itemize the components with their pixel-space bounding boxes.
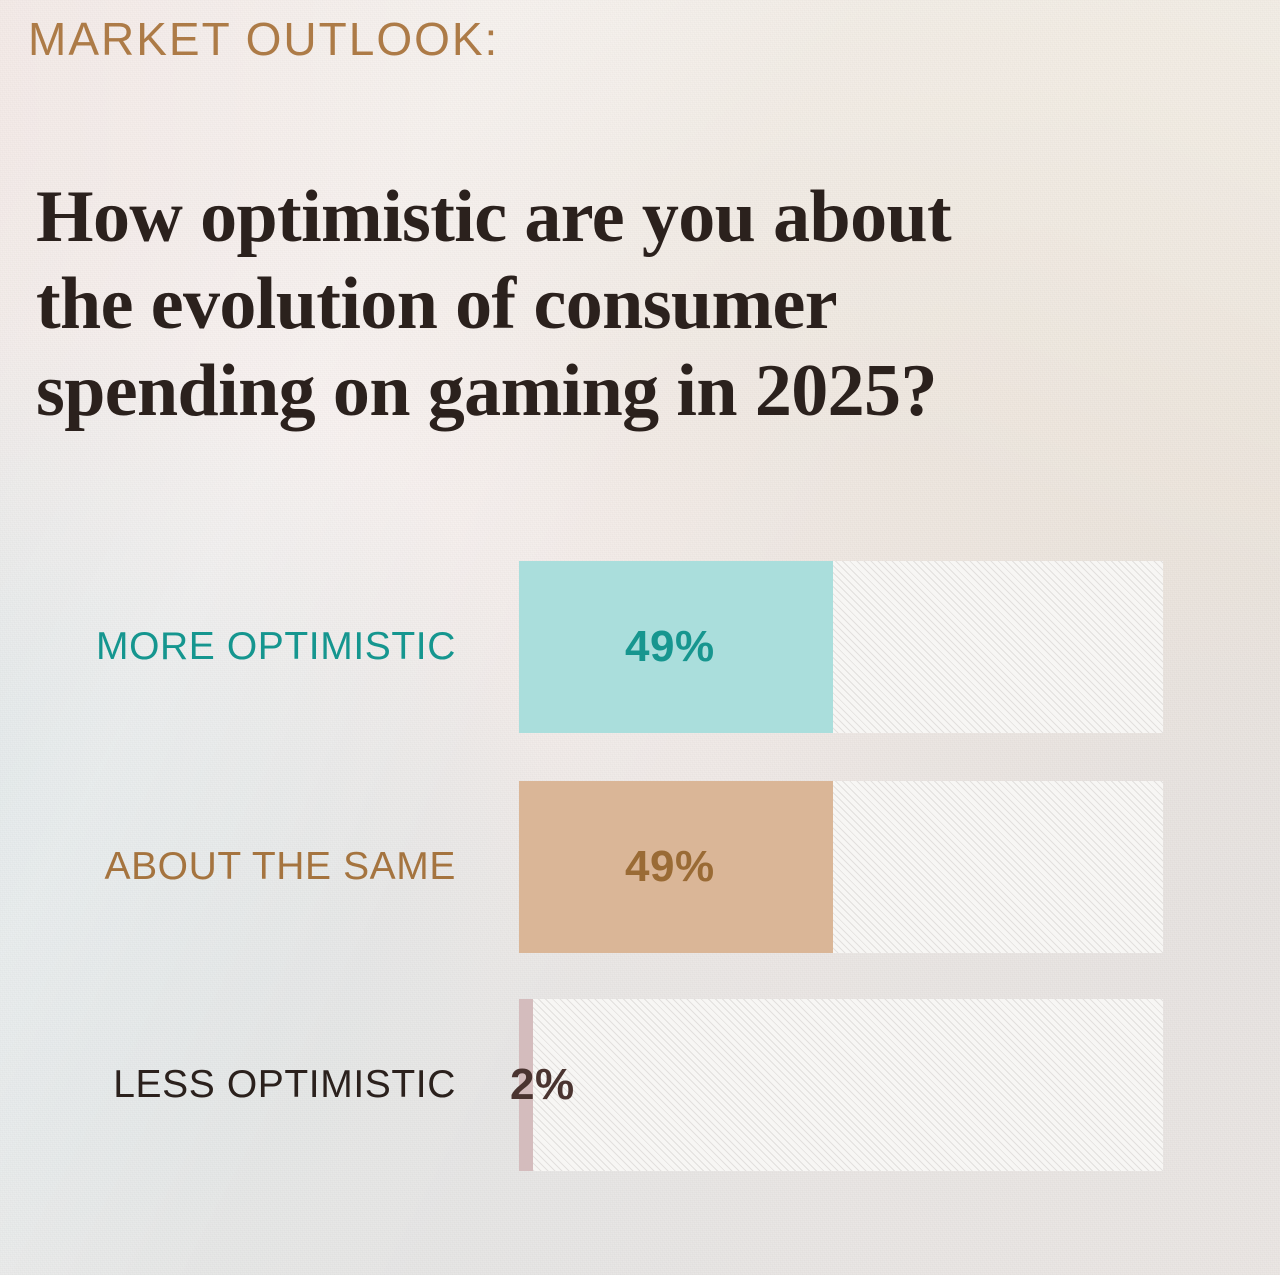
eyebrow-kicker: MARKET OUTLOOK:: [28, 15, 499, 63]
page-title-line-3: spending on gaming in 2025?: [36, 348, 1226, 435]
bar-category-label: MORE OPTIMISTIC: [0, 561, 456, 733]
infographic-poster: MARKET OUTLOOK: How optimistic are you a…: [0, 0, 1280, 1275]
bar-value-label: 2%: [510, 999, 575, 1171]
chart-row-more-optimistic: MORE OPTIMISTIC 49%: [0, 561, 1280, 733]
bar-category-label: LESS OPTIMISTIC: [0, 999, 456, 1171]
chart-row-less-optimistic: LESS OPTIMISTIC 2%: [0, 999, 1280, 1171]
bar-value-label: 49%: [625, 781, 715, 953]
bar-value-label: 49%: [625, 561, 715, 733]
poster-content: MARKET OUTLOOK: How optimistic are you a…: [0, 0, 1280, 1275]
bar-category-label: ABOUT THE SAME: [0, 781, 456, 953]
bar-track: [519, 999, 1163, 1171]
page-title-line-1: How optimistic are you about: [36, 174, 1226, 261]
page-title: How optimistic are you about the evoluti…: [36, 174, 1226, 436]
page-title-line-2: the evolution of consumer: [36, 261, 1226, 348]
chart-row-about-the-same: ABOUT THE SAME 49%: [0, 781, 1280, 953]
